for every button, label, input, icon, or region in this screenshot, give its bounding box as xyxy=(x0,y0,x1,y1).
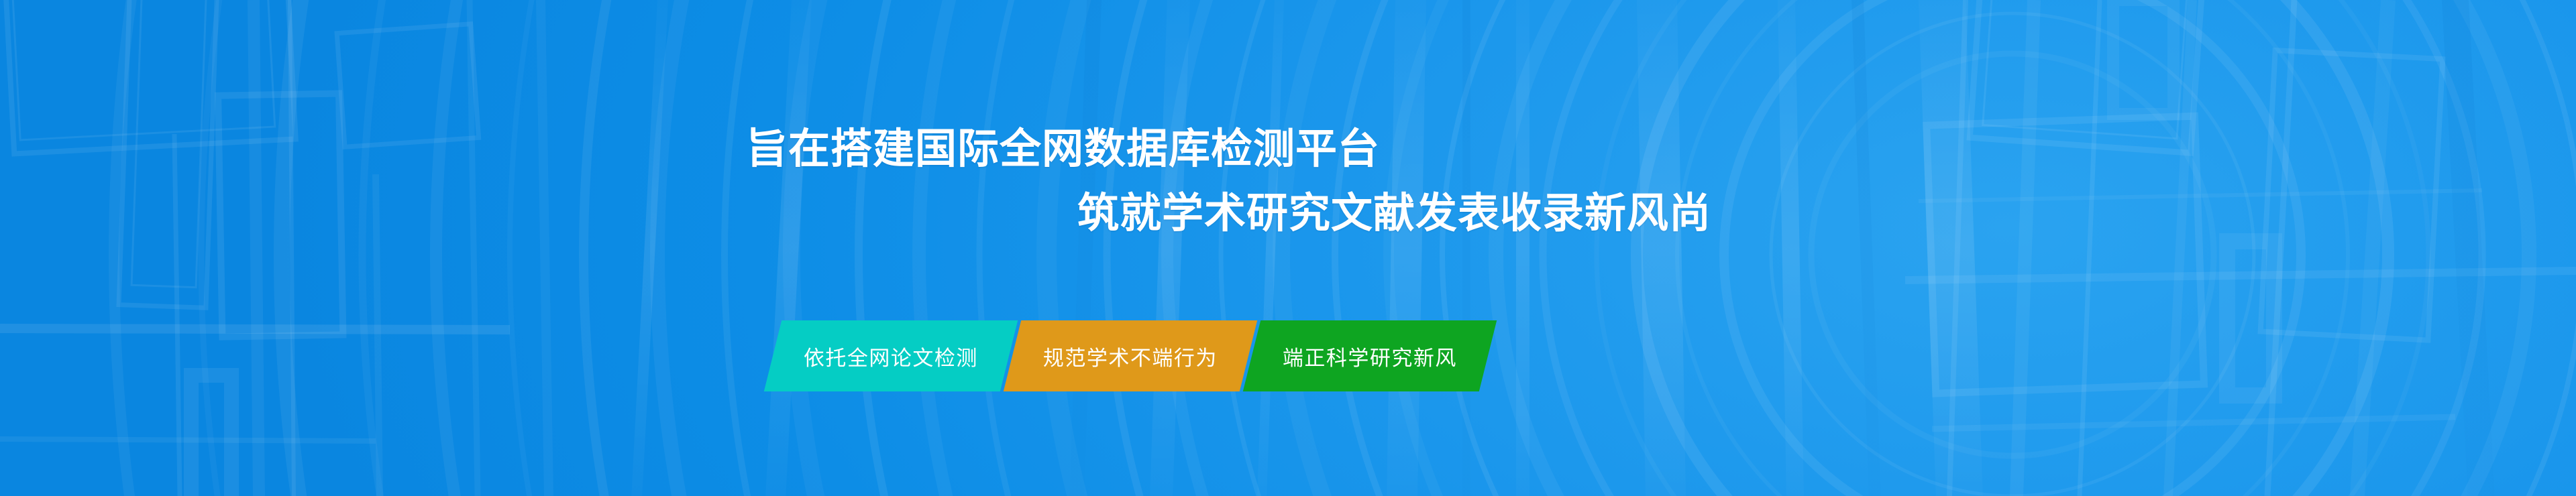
feature-badge-3-label: 端正科学研究新风 xyxy=(1283,341,1457,371)
feature-badge-2-label: 规范学术不端行为 xyxy=(1043,341,1218,371)
feature-badge-2[interactable]: 规范学术不端行为 xyxy=(1004,320,1257,391)
light-streaks-decoration xyxy=(0,0,2576,496)
feature-badge-1-label: 依托全网论文检测 xyxy=(804,341,978,371)
headline-line-1: 旨在搭建国际全网数据库检测平台 xyxy=(746,129,1380,170)
feature-badge-row: 依托全网论文检测 规范学术不端行为 端正科学研究新风 xyxy=(773,320,1488,391)
headline-line-2: 筑就学术研究文献发表收录新风尚 xyxy=(1077,193,1711,235)
hero-banner: 旨在搭建国际全网数据库检测平台 筑就学术研究文献发表收录新风尚 依托全网论文检测… xyxy=(0,0,2576,496)
feature-badge-3[interactable]: 端正科学研究新风 xyxy=(1243,320,1497,391)
feature-badge-1[interactable]: 依托全网论文检测 xyxy=(764,320,1018,391)
